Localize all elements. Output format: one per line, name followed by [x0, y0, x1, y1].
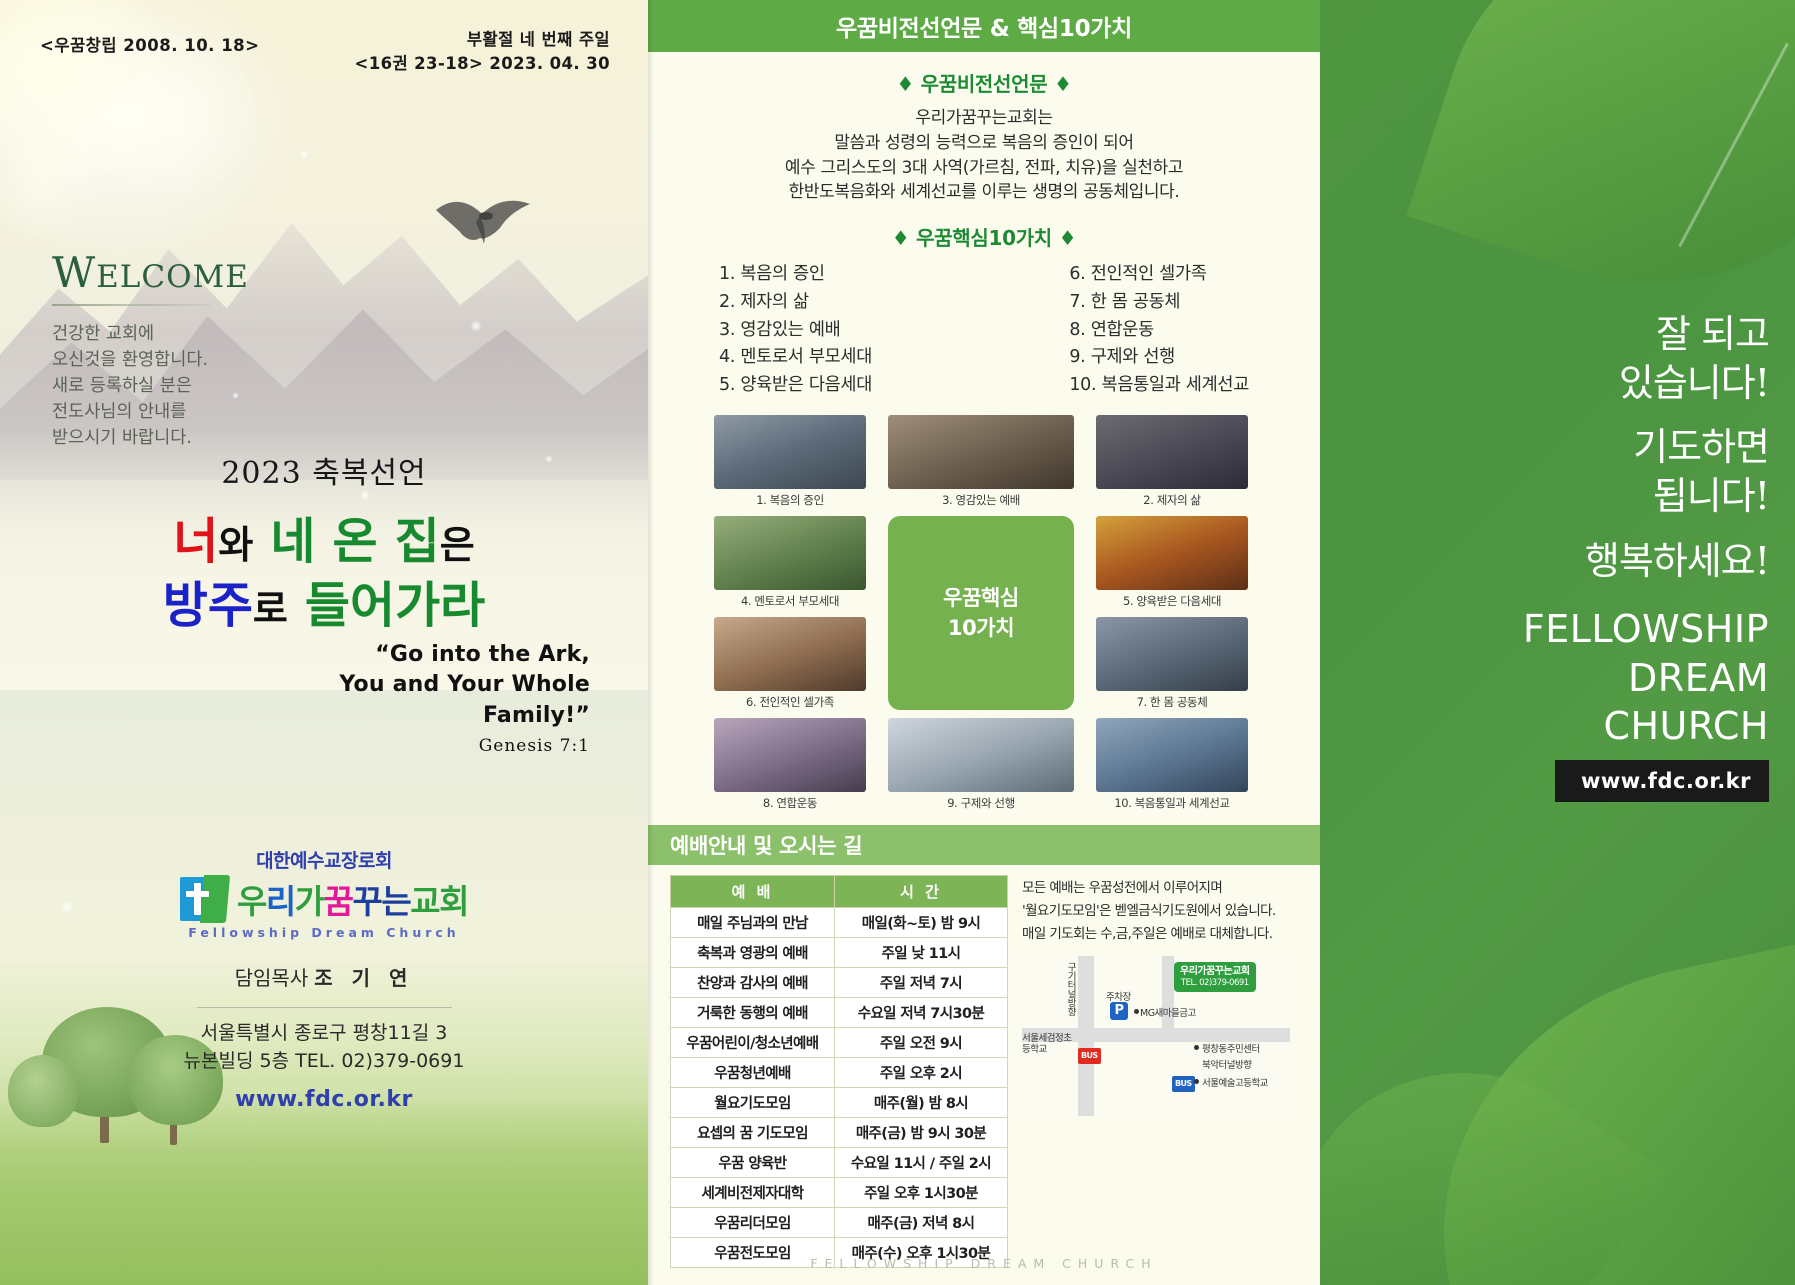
verse-segment: 방주 [163, 576, 253, 634]
core-value-item: 9. 구제와 선행 [1069, 344, 1249, 372]
welcome-body: 건강한 교회에 오신것을 환영합니다. 새로 등록하실 분은 전도사님의 안내를… [52, 322, 282, 451]
volume-date-label: <16권 23-18> 2023. 04. 30 [354, 52, 610, 76]
service-time-cell: 주일 낮 11시 [834, 938, 1007, 968]
core-values-heading: ♦ 우꿈핵심10가치 ♦ [648, 222, 1320, 251]
schedule-and-map: 예 배 시 간 매일 주님과의 만남매일(화~토) 밤 9시축복과 영광의 예배… [648, 865, 1320, 1268]
right-church-name-english: FELLOWSHIP DREAM CHURCH [1523, 605, 1769, 751]
address-divider [197, 1007, 452, 1008]
service-time-cell: 주일 오후 2시 [834, 1058, 1007, 1088]
service-name-cell: 찬양과 감사의 예배 [671, 968, 835, 998]
service-time-cell: 매주(금) 저녁 8시 [834, 1208, 1007, 1238]
church-address: 서울특별시 종로구 평창11길 3 뉴본빌딩 5층 TEL. 02)379-06… [0, 1020, 648, 1075]
service-name-cell: 우꿈 양육반 [671, 1148, 835, 1178]
map-church-marker: 우리가꿈꾸는교회 TEL. 02)379-0691 [1174, 962, 1256, 992]
table-header-row: 예 배 시 간 [671, 876, 1008, 908]
table-row: 우꿈 양육반수요일 11시 / 주일 2시 [671, 1148, 1008, 1178]
welcome-block: WELCOME 건강한 교회에 오신것을 환영합니다. 새로 등록하실 분은 전… [52, 252, 282, 451]
ministry-photo-grid: 1. 복음의 증인 3. 영감있는 예배 2. 제자의 삶 4. 멘토로서 부모… [714, 415, 1254, 811]
vision-section-header: 우꿈비전선언문 & 핵심10가치 [648, 0, 1320, 52]
vision-line: 예수 그리스도의 3대 사역(가르침, 전파, 치유)을 실천하고 [648, 156, 1320, 181]
english-verse-line: Family!” [270, 701, 590, 731]
year-declaration: 2023 축복선언 [0, 448, 648, 492]
table-row: 거룩한 동행의 예배수요일 저녁 7시30분 [671, 998, 1008, 1028]
center-panel: 우꿈비전선언문 & 핵심10가치 ♦ 우꿈비전선언문 ♦ 우리가꿈꾸는교회는 말… [648, 0, 1320, 1285]
pastor-label: 담임목사 [235, 966, 309, 990]
ministry-photo [1096, 516, 1248, 590]
eagle-bird-icon [430, 180, 540, 262]
table-row: 우꿈리더모임매주(금) 저녁 8시 [671, 1208, 1008, 1238]
location-map[interactable]: 구기터널방향 우리가꿈꾸는교회 TEL. 02)379-0691 주차장 P M… [1022, 956, 1290, 1116]
english-name-line: FELLOWSHIP [1523, 605, 1769, 654]
core-values-grid: 1. 복음의 증인 2. 제자의 삶 3. 영감있는 예배 4. 멘토로서 부모… [719, 261, 1249, 399]
core-value-item: 5. 양육받은 다음세대 [719, 372, 872, 400]
logo-word-segment: 꾸는 [353, 882, 411, 921]
map-church-tel: TEL. 02)379-0691 [1180, 978, 1250, 989]
bokeh-circle [0, 120, 100, 240]
website-link[interactable]: www.fdc.or.kr [0, 1087, 648, 1112]
worship-directions-header: 예배안내 및 오시는 길 [648, 825, 1320, 865]
welcome-title-rest: ELCOME [96, 259, 249, 295]
theme-verse-line-2: 방주로 들어가라 [0, 574, 648, 638]
verse-segment: 로 [253, 586, 288, 631]
photo-caption: 2. 제자의 삶 [1096, 492, 1248, 508]
schedule-table-body: 매일 주님과의 만남매일(화~토) 밤 9시축복과 영광의 예배주일 낮 11시… [671, 908, 1008, 1268]
core-value-item: 7. 한 몸 공동체 [1069, 289, 1249, 317]
grass-field-fore [0, 1095, 648, 1285]
photo-caption: 7. 한 몸 공동체 [1096, 694, 1248, 710]
photo-card: 2. 제자의 삶 [1096, 415, 1248, 508]
service-time-cell: 수요일 11시 / 주일 2시 [834, 1148, 1007, 1178]
leaf-graphic [1407, 0, 1795, 346]
verse-segment: 와 [218, 522, 253, 567]
ministry-photo [714, 415, 866, 489]
map-label-elementary: 서울세검정초등학교 [1022, 1034, 1072, 1056]
core-value-item: 4. 멘토로서 부모세대 [719, 344, 872, 372]
verse-segment: 너 [173, 512, 218, 570]
church-logo-block: 대한예수교장로회 우리가꿈꾸는교회 Fellowship Dream Churc… [0, 846, 648, 1112]
logo-word-segment: 리 [266, 882, 295, 921]
map-label-community-center: 평창동주민센터 [1202, 1042, 1260, 1058]
photo-caption: 8. 연합운동 [714, 795, 866, 811]
table-row: 우꿈어린이/청소년예배주일 오전 9시 [671, 1028, 1008, 1058]
welcome-divider [52, 304, 210, 306]
worship-notes: 모든 예배는 우꿈성전에서 이루어지며 '월요기도모임'은 벧엘금식기도원에서 … [1022, 875, 1292, 1268]
photo-card: 8. 연합운동 [714, 718, 866, 811]
badge-line-1: 우꿈핵심 [943, 583, 1019, 613]
bus-stop-badge: BUS [1172, 1076, 1195, 1092]
denomination-label: 대한예수교장로회 [0, 846, 648, 873]
welcome-title-w: W [52, 248, 96, 297]
slogan-line: 기도하면 [1585, 423, 1769, 472]
service-name-cell: 거룩한 동행의 예배 [671, 998, 835, 1028]
right-website-badge[interactable]: www.fdc.or.kr [1555, 760, 1769, 802]
service-name-cell: 세계비전제자대학 [671, 1178, 835, 1208]
church-name-logo: 우리가꿈꾸는교회 [237, 875, 468, 923]
english-verse-line: You and Your Whole [270, 670, 590, 700]
welcome-line: 오신것을 환영합니다. [52, 348, 282, 374]
slogan-line: 잘 되고 [1585, 310, 1769, 359]
ministry-photo [714, 617, 866, 691]
center-footer-text: FELLOWSHIP DREAM CHURCH [648, 1256, 1320, 1271]
welcome-line: 새로 등록하실 분은 [52, 374, 282, 400]
worship-schedule-table: 예 배 시 간 매일 주님과의 만남매일(화~토) 밤 9시축복과 영광의 예배… [670, 875, 1008, 1268]
right-panel: 잘 되고 있습니다! 기도하면 됩니다! 행복하세요! FELLOWSHIP D… [1320, 0, 1795, 1285]
logo-word-segment: 꿈 [324, 882, 353, 921]
church-name-english: Fellowship Dream Church [0, 925, 648, 940]
badge-line-2: 10가치 [948, 613, 1014, 643]
sparkle [470, 320, 482, 332]
table-row: 축복과 영광의 예배주일 낮 11시 [671, 938, 1008, 968]
photo-caption: 4. 멘토로서 부모세대 [714, 593, 866, 609]
service-time-cell: 주일 저녁 7시 [834, 968, 1007, 998]
open-door-cross-icon [180, 875, 230, 923]
service-time-cell: 매일(화~토) 밤 9시 [834, 908, 1007, 938]
photo-caption: 5. 양육받은 다음세대 [1096, 593, 1248, 609]
service-name-cell: 축복과 영광의 예배 [671, 938, 835, 968]
table-row: 찬양과 감사의 예배주일 저녁 7시 [671, 968, 1008, 998]
issue-header: 부활절 네 번째 주일 <16권 23-18> 2023. 04. 30 [354, 28, 610, 76]
photo-card: 5. 양육받은 다음세대 [1096, 516, 1248, 609]
service-time-cell: 주일 오후 1시30분 [834, 1178, 1007, 1208]
column-header-time: 시 간 [834, 876, 1007, 908]
service-name-cell: 요셉의 꿈 기도모임 [671, 1118, 835, 1148]
address-line: 서울특별시 종로구 평창11길 3 [0, 1020, 648, 1048]
note-line: '월요기도모임'은 벧엘금식기도원에서 있습니다. [1022, 900, 1292, 923]
ministry-photo [888, 718, 1074, 792]
map-label-gugi-tunnel: 구기터널방향 [1062, 962, 1078, 1016]
photo-card: 7. 한 몸 공동체 [1096, 617, 1248, 710]
slogan-line: 행복하세요! [1585, 537, 1769, 586]
core-value-item: 3. 영감있는 예배 [719, 317, 872, 345]
english-verse-quote: “Go into the Ark, You and Your Whole Fam… [270, 640, 590, 759]
photo-caption: 9. 구제와 선행 [888, 795, 1074, 811]
service-time-cell: 매주(금) 밤 9시 30분 [834, 1118, 1007, 1148]
photo-card: 6. 전인적인 셀가족 [714, 617, 866, 710]
core-values-column-left: 1. 복음의 증인 2. 제자의 삶 3. 영감있는 예배 4. 멘토로서 부모… [719, 261, 872, 399]
photo-card: 10. 복음통일과 세계선교 [1096, 718, 1248, 811]
table-row: 매일 주님과의 만남매일(화~토) 밤 9시 [671, 908, 1008, 938]
left-panel: <우꿈창립 2008. 10. 18> 부활절 네 번째 주일 <16권 23-… [0, 0, 648, 1285]
photo-caption: 1. 복음의 증인 [714, 492, 866, 508]
core-value-item: 2. 제자의 삶 [719, 289, 872, 317]
ministry-photo [1096, 718, 1248, 792]
sparkle [300, 150, 309, 159]
map-label-arts-high-school: 서울예술고등학교 [1202, 1076, 1268, 1092]
welcome-title: WELCOME [52, 252, 282, 294]
service-time-cell: 매주(월) 밤 8시 [834, 1088, 1007, 1118]
service-name-cell: 우꿈청년예배 [671, 1058, 835, 1088]
panel-seam [648, 0, 654, 1285]
liturgical-sunday-label: 부활절 네 번째 주일 [354, 28, 610, 52]
founding-date-label: <우꿈창립 2008. 10. 18> [40, 32, 260, 56]
service-name-cell: 우꿈리더모임 [671, 1208, 835, 1238]
scripture-reference: Genesis 7:1 [270, 735, 590, 758]
map-dot [1194, 1045, 1199, 1050]
core-value-item: 6. 전인적인 셀가족 [1069, 261, 1249, 289]
vision-line: 우리가꿈꾸는교회는 [648, 106, 1320, 131]
note-line: 매일 기도회는 수,금,주일은 예배로 대체합니다. [1022, 923, 1292, 946]
photo-caption: 10. 복음통일과 세계선교 [1096, 795, 1248, 811]
logo-row: 우리가꿈꾸는교회 [0, 875, 648, 923]
english-name-line: CHURCH [1523, 702, 1769, 751]
theme-verse-line-1: 너와 네 온 집은 [0, 510, 648, 574]
bus-stop-badge: BUS [1078, 1048, 1101, 1064]
ministry-photo [714, 516, 866, 590]
english-name-line: DREAM [1523, 654, 1769, 703]
ministry-photo [1096, 415, 1248, 489]
core-value-item: 1. 복음의 증인 [719, 261, 872, 289]
vision-statement-body: 우리가꿈꾸는교회는 말씀과 성령의 능력으로 복음의 증인이 되어 예수 그리스… [648, 106, 1320, 205]
ministry-photo [888, 415, 1074, 489]
photo-card: 4. 멘토로서 부모세대 [714, 516, 866, 609]
brochure-page: <우꿈창립 2008. 10. 18> 부활절 네 번째 주일 <16권 23-… [0, 0, 1795, 1285]
service-name-cell: 매일 주님과의 만남 [671, 908, 835, 938]
photo-caption: 6. 전인적인 셀가족 [714, 694, 866, 710]
core-values-column-right: 6. 전인적인 셀가족 7. 한 몸 공동체 8. 연합운동 9. 구제와 선행… [1069, 261, 1249, 399]
vision-line: 한반도복음화와 세계선교를 이루는 생명의 공동체입니다. [648, 180, 1320, 205]
photo-card: 9. 구제와 선행 [888, 718, 1074, 811]
note-line: 모든 예배는 우꿈성전에서 이루어지며 [1022, 877, 1292, 900]
ministry-photo [714, 718, 866, 792]
map-church-name: 우리가꿈꾸는교회 [1180, 965, 1250, 978]
logo-word-segment: 교회 [410, 882, 468, 921]
logo-word-segment: 우 [237, 882, 266, 921]
column-header-service: 예 배 [671, 876, 835, 908]
map-label-mg-bank: MG새마을금고 [1140, 1006, 1196, 1022]
parking-icon: P [1110, 1002, 1128, 1020]
photo-card: 3. 영감있는 예배 [888, 415, 1074, 508]
table-row: 월요기도모임매주(월) 밤 8시 [671, 1088, 1008, 1118]
map-road-branch [1162, 956, 1174, 1042]
photo-caption: 3. 영감있는 예배 [888, 492, 1074, 508]
ministry-photo [1096, 617, 1248, 691]
english-verse-line: “Go into the Ark, [270, 640, 590, 670]
theme-verse: 너와 네 온 집은 방주로 들어가라 [0, 510, 648, 637]
table-row: 우꿈청년예배주일 오후 2시 [671, 1058, 1008, 1088]
logo-word-segment: 가 [295, 882, 324, 921]
core-values-badge: 우꿈핵심 10가치 [888, 516, 1074, 710]
photo-card: 1. 복음의 증인 [714, 415, 866, 508]
map-dot [1194, 1079, 1199, 1084]
senior-pastor: 담임목사조 기 연 [0, 962, 648, 991]
slogan-line: 있습니다! [1585, 359, 1769, 408]
vision-line: 말씀과 성령의 능력으로 복음의 증인이 되어 [648, 131, 1320, 156]
bokeh-circle [95, 35, 255, 195]
service-name-cell: 월요기도모임 [671, 1088, 835, 1118]
address-line: 뉴본빌딩 5층 TEL. 02)379-0691 [0, 1048, 648, 1076]
core-value-item: 8. 연합운동 [1069, 317, 1249, 345]
service-time-cell: 수요일 저녁 7시30분 [834, 998, 1007, 1028]
pastor-name: 조 기 연 [314, 966, 413, 990]
bokeh-circle [0, 0, 170, 180]
verse-segment: 네 온 집 [253, 512, 439, 570]
service-name-cell: 우꿈어린이/청소년예배 [671, 1028, 835, 1058]
service-time-cell: 주일 오전 9시 [834, 1028, 1007, 1058]
right-slogan-korean: 잘 되고 있습니다! 기도하면 됩니다! 행복하세요! [1585, 310, 1769, 585]
map-dot [1134, 1009, 1139, 1014]
table-row: 요셉의 꿈 기도모임매주(금) 밤 9시 30분 [671, 1118, 1008, 1148]
slogan-line: 됩니다! [1585, 472, 1769, 521]
welcome-line: 건강한 교회에 [52, 322, 282, 348]
map-label-bukak-tunnel: 북악터널방향 [1202, 1058, 1251, 1074]
vision-statement-heading: ♦ 우꿈비전선언문 ♦ [648, 68, 1320, 97]
verse-segment: 은 [440, 522, 475, 567]
table-row: 세계비전제자대학주일 오후 1시30분 [671, 1178, 1008, 1208]
core-value-item: 10. 복음통일과 세계선교 [1069, 372, 1249, 400]
welcome-line: 전도사님의 안내를 [52, 400, 282, 426]
verse-segment: 들어가라 [288, 576, 485, 634]
